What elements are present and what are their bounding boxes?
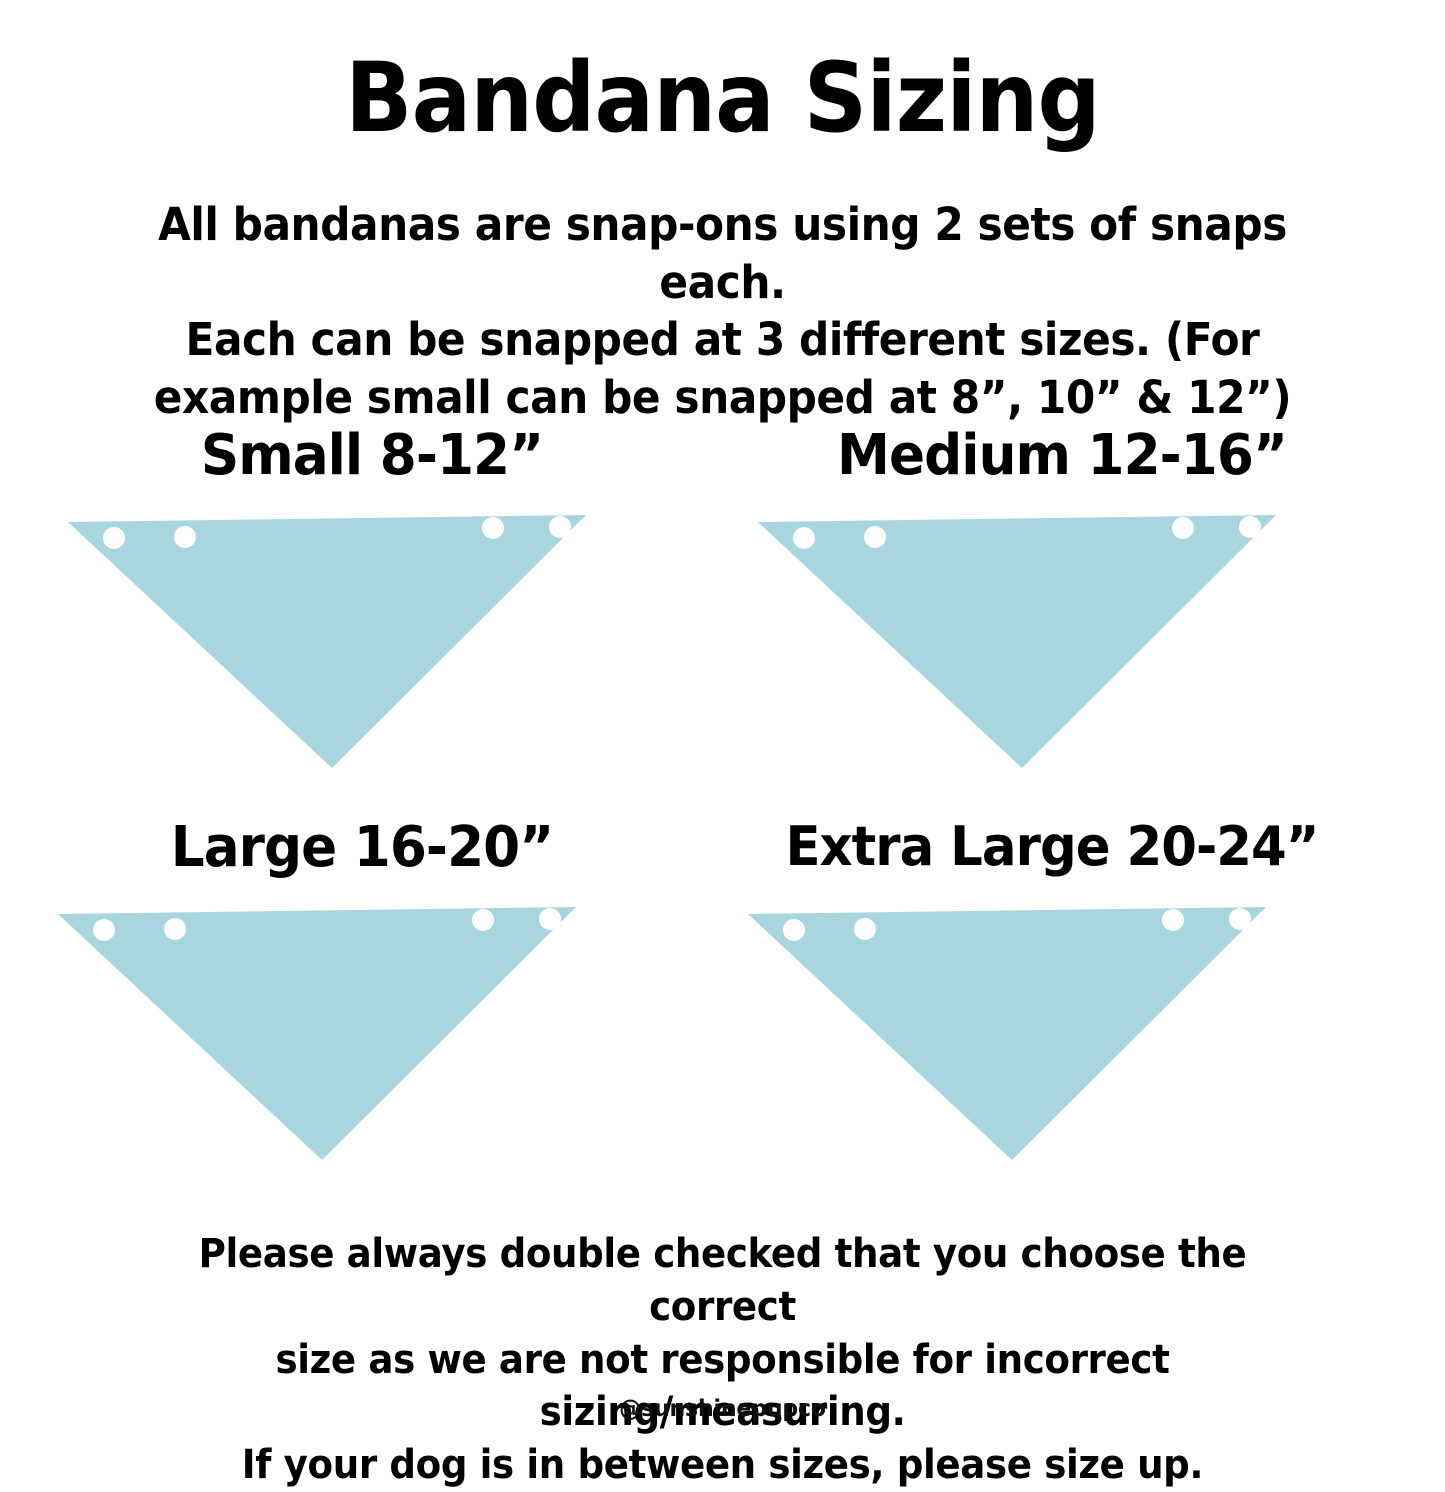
triangle-shape [68, 515, 586, 768]
snap-hole-4 [1239, 516, 1261, 538]
intro-line-1: All bandanas are snap-ons using 2 sets o… [137, 196, 1307, 311]
snap-hole-1 [103, 527, 125, 549]
snap-hole-4 [539, 908, 561, 930]
intro-line-2: Each can be snapped at 3 different sizes… [137, 311, 1307, 369]
disclaimer-line-3: If your dog is in between sizes, please … [153, 1439, 1292, 1492]
size-grid: Small 8-12” Medium 12-16” [0, 428, 1445, 1218]
size-cell-extra-large: Extra Large 20-24” [732, 820, 1372, 1210]
size-label-small: Small 8-12” [68, 428, 676, 484]
snap-hole-4 [549, 516, 571, 538]
snap-hole-2 [854, 918, 876, 940]
triangle-shape [58, 907, 576, 1160]
snap-hole-3 [1172, 517, 1194, 539]
bandana-triangle-extra-large-svg [732, 892, 1372, 1192]
bandana-medium [742, 500, 1382, 800]
size-cell-small: Small 8-12” [52, 428, 692, 818]
triangle-shape [748, 907, 1266, 1160]
intro-line-3: example small can be snapped at 8”, 10” … [137, 369, 1307, 427]
page-title: Bandana Sizing [58, 48, 1387, 149]
size-cell-medium: Medium 12-16” [742, 428, 1382, 818]
bandana-triangle-small-svg [52, 500, 692, 800]
snap-hole-1 [93, 919, 115, 941]
size-cell-large: Large 16-20” [42, 820, 682, 1210]
snap-hole-4 [1229, 908, 1251, 930]
size-label-extra-large: Extra Large 20-24” [748, 820, 1356, 874]
bandana-small [52, 500, 692, 800]
brand-handle: @sunshinepupco [29, 1396, 1416, 1422]
sizing-chart-page: Bandana Sizing All bandanas are snap-ons… [0, 0, 1445, 1445]
snap-hole-2 [164, 918, 186, 940]
bandana-extra-large [732, 892, 1372, 1192]
disclaimer-paragraph: Please always double checked that you ch… [153, 1228, 1292, 1492]
snap-hole-3 [472, 909, 494, 931]
snap-hole-2 [864, 526, 886, 548]
snap-hole-1 [793, 527, 815, 549]
disclaimer-line-2: size as we are not responsible for incor… [153, 1334, 1292, 1440]
size-label-large: Large 16-20” [58, 820, 666, 876]
snap-hole-2 [174, 526, 196, 548]
bandana-triangle-medium-svg [742, 500, 1382, 800]
snap-hole-3 [482, 517, 504, 539]
size-label-medium: Medium 12-16” [758, 428, 1366, 484]
triangle-shape [758, 515, 1276, 768]
snap-hole-3 [1162, 909, 1184, 931]
bandana-large [42, 892, 682, 1192]
snap-hole-1 [783, 919, 805, 941]
disclaimer-line-1: Please always double checked that you ch… [153, 1228, 1292, 1334]
intro-paragraph: All bandanas are snap-ons using 2 sets o… [137, 196, 1307, 426]
bandana-triangle-large-svg [42, 892, 682, 1192]
